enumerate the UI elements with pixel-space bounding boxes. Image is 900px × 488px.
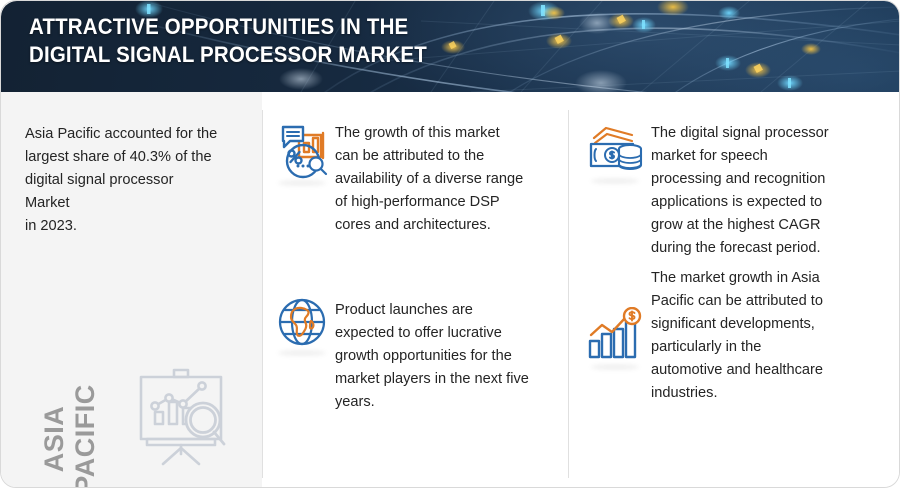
left-panel: Asia Pacific accounted for the largest s… xyxy=(1,92,262,488)
insight-item: The growth of this market can be attribu… xyxy=(269,121,569,237)
middle-column: The growth of this market can be attribu… xyxy=(263,92,568,488)
icon-cell xyxy=(579,122,651,181)
icon-cell xyxy=(269,121,335,184)
icon-shadow xyxy=(278,350,326,356)
icon-shadow xyxy=(591,364,639,370)
icon-cell xyxy=(579,267,651,368)
growth-bar-chart-dollar-icon xyxy=(585,307,645,363)
insight-item: The market growth in Asia Pacific can be… xyxy=(579,267,900,405)
market-analysis-percent-bar-chart-icon xyxy=(273,121,331,179)
header-banner: ATTRACTIVE OPPORTUNITIES IN THE DIGITAL … xyxy=(1,1,900,92)
icon-shadow xyxy=(591,178,639,184)
icon-cell xyxy=(269,295,335,354)
presentation-board-chart-magnifier-icon xyxy=(129,362,233,466)
region-watermark-label: ASIA PACIFIC xyxy=(39,364,101,488)
insight-item: Product launches are expected to offer l… xyxy=(269,295,569,414)
right-column: The digital signal processor market for … xyxy=(569,92,900,488)
insight-text: The market growth in Asia Pacific can be… xyxy=(651,267,891,405)
insight-text: The digital signal processor market for … xyxy=(651,122,891,260)
infographic-card: ATTRACTIVE OPPORTUNITIES IN THE DIGITAL … xyxy=(0,0,900,488)
insight-text: Product launches are expected to offer l… xyxy=(335,295,563,414)
content-area: Asia Pacific accounted for the largest s… xyxy=(1,92,900,488)
insight-text: The growth of this market can be attribu… xyxy=(335,121,563,237)
globe-icon xyxy=(275,295,329,349)
icon-shadow xyxy=(278,180,326,186)
money-banknote-coins-icon xyxy=(586,122,644,176)
page-title: ATTRACTIVE OPPORTUNITIES IN THE DIGITAL … xyxy=(29,13,427,69)
insight-item: The digital signal processor market for … xyxy=(579,122,900,260)
regional-share-statement: Asia Pacific accounted for the largest s… xyxy=(25,123,245,238)
